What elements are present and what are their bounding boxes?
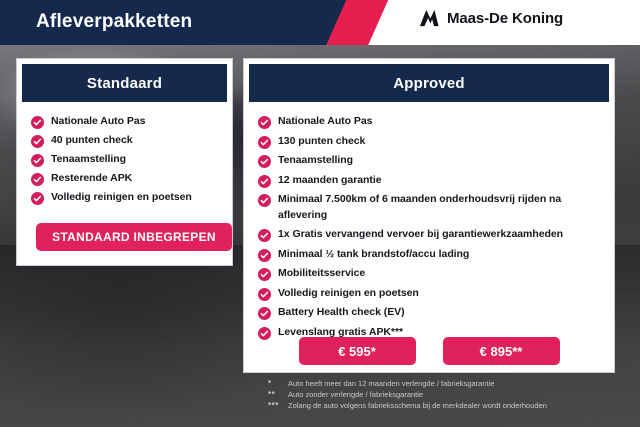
list-item: 1x Gratis vervangend vervoer bij garanti… xyxy=(258,227,614,243)
brand-logo: Maas-De Koning xyxy=(418,8,563,28)
feature-label: Mobiliteitsservice xyxy=(278,266,365,282)
feature-label: 130 punten check xyxy=(278,134,365,150)
list-item: Volledig reinigen en poetsen xyxy=(31,190,232,205)
package-card-approved: Approved Nationale Auto Pas 130 punten c… xyxy=(243,58,615,373)
check-circle-icon xyxy=(31,154,44,167)
feature-label: Minimaal 7.500km of 6 maanden onderhouds… xyxy=(278,192,578,223)
feature-label: Tenaamstelling xyxy=(278,153,353,169)
check-circle-icon xyxy=(31,192,44,205)
check-circle-icon xyxy=(31,135,44,148)
list-item: Resterende APK xyxy=(31,171,232,186)
feature-label: Volledig reinigen en poetsen xyxy=(278,286,419,302)
feature-label: 12 maanden garantie xyxy=(278,173,382,189)
list-item: Tenaamstelling xyxy=(31,152,232,167)
feature-list-standaard: Nationale Auto Pas 40 punten check Tenaa… xyxy=(31,114,232,205)
footnote-row: ** Auto zonder verlengde / fabrieksgaran… xyxy=(268,390,618,400)
list-item: Minimaal ½ tank brandstof/accu lading xyxy=(258,247,614,263)
check-circle-icon xyxy=(258,155,271,168)
list-item: 12 maanden garantie xyxy=(258,173,614,189)
feature-label: 40 punten check xyxy=(51,133,133,147)
price-button-895[interactable]: € 895** xyxy=(443,337,560,365)
check-circle-icon xyxy=(258,229,271,242)
footnote-text: Auto zonder verlengde / fabrieksgarantie xyxy=(288,390,423,400)
price-button-595[interactable]: € 595* xyxy=(299,337,416,365)
price-button-row: € 595* € 895** xyxy=(244,337,614,365)
list-item: Mobiliteitsservice xyxy=(258,266,614,282)
check-circle-icon xyxy=(258,116,271,129)
feature-label: Minimaal ½ tank brandstof/accu lading xyxy=(278,247,469,263)
check-circle-icon xyxy=(258,268,271,281)
list-item: Tenaamstelling xyxy=(258,153,614,169)
check-circle-icon xyxy=(258,136,271,149)
list-item: 130 punten check xyxy=(258,134,614,150)
footnote-text: Auto heeft meer dan 12 maanden verlengde… xyxy=(288,379,494,389)
footnote-block: * Auto heeft meer dan 12 maanden verleng… xyxy=(268,379,618,412)
list-item: Nationale Auto Pas xyxy=(31,114,232,129)
feature-label: 1x Gratis vervangend vervoer bij garanti… xyxy=(278,227,563,243)
footnote-row: *** Zolang de auto volgens fabrieksschem… xyxy=(268,401,618,411)
check-circle-icon xyxy=(258,175,271,188)
check-circle-icon xyxy=(258,194,271,207)
card-title: Approved xyxy=(393,75,465,92)
feature-list-approved: Nationale Auto Pas 130 punten check Tena… xyxy=(258,114,614,340)
check-circle-icon xyxy=(258,307,271,320)
feature-label: Tenaamstelling xyxy=(51,152,126,166)
feature-label: Battery Health check (EV) xyxy=(278,305,405,321)
footnote-row: * Auto heeft meer dan 12 maanden verleng… xyxy=(268,379,618,389)
list-item: Minimaal 7.500km of 6 maanden onderhouds… xyxy=(258,192,614,223)
card-header-approved: Approved xyxy=(249,64,609,102)
brand-name: Maas-De Koning xyxy=(447,10,563,27)
footnote-marker: * xyxy=(268,379,288,389)
feature-label: Nationale Auto Pas xyxy=(278,114,372,130)
feature-label: Resterende APK xyxy=(51,171,132,185)
feature-label: Nationale Auto Pas xyxy=(51,114,145,128)
check-circle-icon xyxy=(258,249,271,262)
card-header-standaard: Standaard xyxy=(22,64,227,102)
footnote-marker: *** xyxy=(268,401,288,411)
standaard-inbegrepen-button[interactable]: STANDAARD INBEGREPEN xyxy=(36,223,232,251)
footnote-marker: ** xyxy=(268,390,288,400)
feature-label: Volledig reinigen en poetsen xyxy=(51,190,192,204)
package-card-standaard: Standaard Nationale Auto Pas 40 punten c… xyxy=(16,58,233,266)
top-header-bar: Afleverpakketten Maas-De Koning xyxy=(0,0,640,45)
list-item: Battery Health check (EV) xyxy=(258,305,614,321)
footnote-text: Zolang de auto volgens fabrieksschema bi… xyxy=(288,401,547,411)
list-item: 40 punten check xyxy=(31,133,232,148)
slide-canvas: Afleverpakketten Maas-De Koning Standaar… xyxy=(0,0,640,427)
check-circle-icon xyxy=(31,173,44,186)
check-circle-icon xyxy=(31,116,44,129)
card-title: Standaard xyxy=(87,75,162,92)
list-item: Nationale Auto Pas xyxy=(258,114,614,130)
page-title: Afleverpakketten xyxy=(36,11,192,33)
check-circle-icon xyxy=(258,288,271,301)
list-item: Volledig reinigen en poetsen xyxy=(258,286,614,302)
m-monogram-icon xyxy=(418,8,440,28)
